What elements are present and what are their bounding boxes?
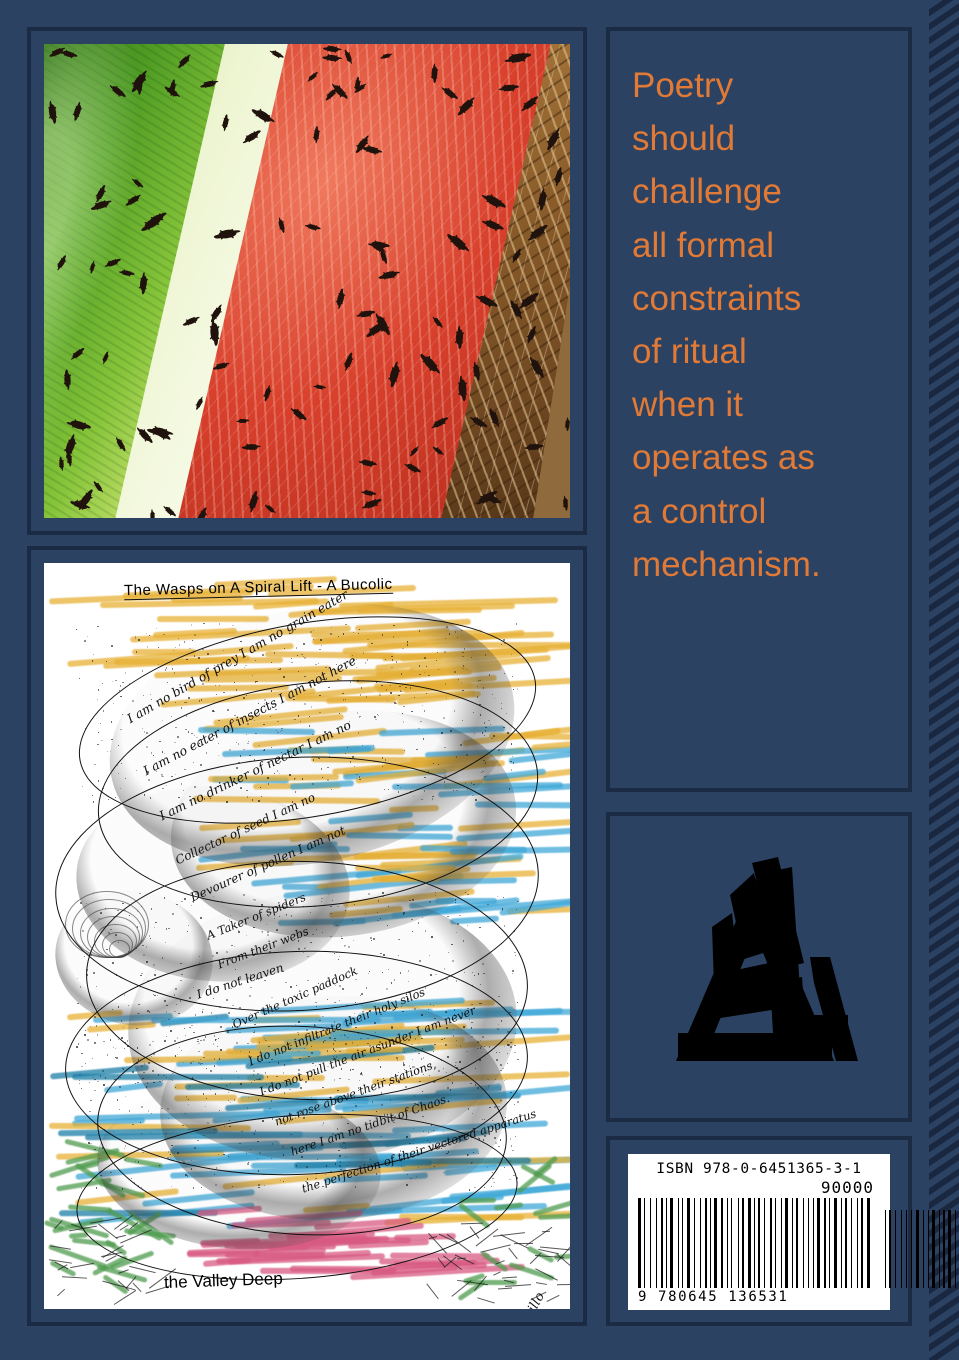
graphite-stipple bbox=[510, 1138, 511, 1139]
ant bbox=[563, 498, 568, 508]
graphite-stipple bbox=[94, 1149, 95, 1150]
photograph-panel bbox=[27, 27, 587, 535]
barcode-bar bbox=[920, 1210, 921, 1288]
barcode-bar bbox=[692, 1198, 693, 1288]
isbn-label: ISBN 978-0-6451365-3-1 bbox=[638, 1161, 880, 1177]
barcode-bar bbox=[668, 1198, 669, 1288]
graphite-stipple bbox=[77, 1003, 78, 1004]
barcode-bar bbox=[906, 1210, 907, 1288]
barcode-bar bbox=[666, 1198, 667, 1288]
barcode-bar bbox=[923, 1210, 924, 1288]
barcode-bar bbox=[789, 1198, 790, 1288]
quote-panel: Poetryshouldchallengeall formalconstrain… bbox=[606, 27, 912, 792]
ink-sketch-mark bbox=[477, 1298, 495, 1304]
barcode-bar bbox=[775, 1198, 776, 1288]
barcode-bar bbox=[857, 1198, 858, 1288]
graphite-stipple bbox=[163, 634, 164, 635]
barcode-bar bbox=[770, 1198, 772, 1288]
barcode-bar bbox=[702, 1198, 703, 1288]
barcode-bar bbox=[903, 1210, 905, 1288]
barcode-bar bbox=[783, 1198, 784, 1288]
quote-line: when it bbox=[632, 378, 896, 431]
graphite-stipple bbox=[87, 636, 88, 637]
barcode-bar bbox=[955, 1210, 956, 1288]
barcode-bar bbox=[930, 1210, 931, 1288]
graphite-stipple bbox=[149, 635, 150, 636]
ant bbox=[458, 379, 466, 396]
barcode-bar bbox=[729, 1198, 730, 1288]
barcode-bar bbox=[727, 1198, 728, 1288]
barcode-bar bbox=[670, 1198, 673, 1288]
barcode-bar bbox=[724, 1198, 726, 1288]
graphite-stipple bbox=[192, 640, 193, 641]
graphite-stipple bbox=[76, 629, 77, 630]
ant bbox=[508, 52, 527, 63]
graphite-stipple bbox=[179, 644, 180, 645]
barcode-bar bbox=[909, 1210, 910, 1288]
barcode-bar bbox=[664, 1198, 665, 1288]
ant bbox=[278, 220, 285, 231]
barcode-bar bbox=[682, 1198, 683, 1288]
barcode-bar bbox=[742, 1198, 744, 1288]
barcode-bar bbox=[748, 1198, 751, 1288]
barcode-bar bbox=[638, 1198, 641, 1288]
barcode-bars-row bbox=[638, 1198, 880, 1288]
barcode-bar bbox=[827, 1198, 828, 1288]
barcode-bar bbox=[937, 1210, 938, 1288]
publisher-logo-icon bbox=[652, 855, 866, 1079]
quote-line: a control bbox=[632, 485, 896, 538]
ants-on-watermelon-photo bbox=[44, 44, 570, 518]
barcode-bar bbox=[834, 1198, 837, 1288]
graphite-stipple bbox=[84, 956, 85, 957]
graphite-stipple bbox=[82, 786, 83, 787]
barcode-bar bbox=[897, 1210, 900, 1288]
ant bbox=[455, 329, 464, 345]
barcode-bar bbox=[885, 1210, 886, 1288]
barcode-bar bbox=[946, 1210, 947, 1288]
barcode-bar bbox=[687, 1198, 690, 1288]
graphite-stipple bbox=[138, 639, 139, 640]
barcode-bar bbox=[738, 1198, 739, 1288]
graphite-stipple bbox=[97, 626, 98, 627]
barcode-bar bbox=[781, 1198, 782, 1288]
quote-line: should bbox=[632, 112, 896, 165]
graphite-stipple bbox=[84, 640, 85, 641]
graphite-stipple bbox=[102, 683, 103, 684]
barcode-bar bbox=[851, 1198, 852, 1288]
barcode-bar bbox=[861, 1198, 863, 1288]
ant bbox=[60, 459, 64, 469]
ant bbox=[527, 444, 540, 450]
graphite-stipple bbox=[93, 654, 94, 655]
ink-sketch-mark bbox=[426, 1283, 439, 1299]
isbn-addon-label: 90000 bbox=[638, 1178, 880, 1197]
quote-line: of ritual bbox=[632, 325, 896, 378]
crayon-stroke bbox=[508, 1262, 554, 1281]
barcode-bar bbox=[721, 1198, 723, 1288]
barcode-bar bbox=[799, 1198, 802, 1288]
graphite-stipple bbox=[191, 624, 192, 625]
barcode-bar bbox=[796, 1198, 798, 1288]
graphite-stipple bbox=[512, 1150, 513, 1151]
publisher-logo-box bbox=[610, 816, 908, 1118]
graphite-stipple bbox=[93, 801, 94, 802]
graphite-stipple bbox=[135, 637, 136, 638]
barcode-bar bbox=[953, 1210, 954, 1288]
ant bbox=[431, 67, 438, 80]
graphite-stipple bbox=[115, 680, 116, 681]
graphite-stipple bbox=[158, 647, 159, 648]
barcode-bar bbox=[734, 1198, 737, 1288]
quote-line: operates as bbox=[632, 431, 896, 484]
ant bbox=[359, 311, 372, 318]
barcode-bar bbox=[813, 1198, 814, 1288]
barcode-bar bbox=[810, 1198, 812, 1288]
ink-sketch-mark bbox=[62, 1276, 87, 1278]
graphite-stipple bbox=[514, 1104, 515, 1105]
drawing-title: The Wasps on A Spiral Lift - A Bucolic bbox=[124, 576, 393, 601]
barcode-bar bbox=[867, 1198, 870, 1288]
graphite-stipple bbox=[90, 1143, 91, 1144]
barcode-bar bbox=[939, 1210, 940, 1288]
ink-sketch-mark bbox=[502, 1276, 517, 1278]
barcode-bar bbox=[901, 1210, 902, 1288]
graphite-stipple bbox=[511, 1145, 512, 1146]
barcode-bar bbox=[650, 1198, 651, 1288]
barcode-bar bbox=[680, 1198, 681, 1288]
barcode-bar bbox=[754, 1198, 755, 1288]
barcode-bar bbox=[843, 1198, 844, 1288]
barcode-bar bbox=[893, 1210, 894, 1288]
graphite-stipple bbox=[80, 986, 81, 987]
ant bbox=[49, 104, 57, 120]
ink-sketch-mark bbox=[493, 1271, 501, 1275]
ink-sketch-mark bbox=[557, 1284, 570, 1286]
ink-sketch-mark bbox=[70, 1263, 94, 1268]
graphite-stipple bbox=[158, 664, 159, 665]
barcode-bar bbox=[705, 1198, 707, 1288]
barcode-bar bbox=[731, 1198, 732, 1288]
barcode-bar bbox=[752, 1198, 753, 1288]
barcode-bar bbox=[773, 1198, 774, 1288]
graphite-stipple bbox=[184, 641, 185, 642]
barcode-bar bbox=[644, 1198, 645, 1288]
ant bbox=[501, 85, 515, 92]
spiral-poem-drawing: I am no bird of prey I am no grain eater… bbox=[44, 563, 570, 1309]
ant bbox=[135, 78, 143, 91]
barcode-bar bbox=[943, 1210, 945, 1288]
graphite-stipple bbox=[97, 699, 98, 700]
quote-line: challenge bbox=[632, 165, 896, 218]
barcode-bar bbox=[925, 1210, 927, 1288]
barcode-bar bbox=[710, 1198, 711, 1288]
ink-sketch-mark bbox=[536, 1282, 547, 1285]
barcode-bar bbox=[838, 1198, 840, 1288]
barcode-bar bbox=[758, 1198, 760, 1288]
barcode-bar bbox=[647, 1198, 649, 1288]
barcode-bar bbox=[911, 1210, 912, 1288]
ink-sketch-mark bbox=[493, 1232, 525, 1237]
ink-sketch-mark bbox=[508, 1248, 518, 1260]
barcode-bar bbox=[684, 1198, 686, 1288]
ant bbox=[245, 443, 258, 449]
graphite-stipple bbox=[516, 623, 517, 624]
ant bbox=[64, 373, 71, 387]
graphite-stipple bbox=[99, 1158, 100, 1159]
photograph-frame bbox=[35, 35, 579, 527]
graphite-stipple bbox=[517, 1101, 518, 1102]
barcode-bar bbox=[652, 1198, 655, 1288]
graphite-stipple bbox=[111, 645, 112, 646]
barcode-bar bbox=[841, 1198, 842, 1288]
spiral-binding-edge bbox=[925, 0, 959, 1360]
barcode-bar bbox=[764, 1198, 765, 1288]
graphite-stipple bbox=[173, 650, 174, 651]
barcode-bar bbox=[694, 1198, 695, 1288]
barcode-bar bbox=[889, 1210, 891, 1288]
ant bbox=[150, 511, 155, 518]
graphite-stipple bbox=[178, 638, 179, 639]
barcode-bar bbox=[718, 1198, 719, 1288]
graphite-stipple bbox=[515, 1136, 516, 1137]
barcode-bar bbox=[913, 1210, 915, 1288]
barcode-bar bbox=[948, 1210, 951, 1288]
drawing-caption: the Valley Deep bbox=[164, 1269, 283, 1293]
barcode-bar bbox=[714, 1198, 717, 1288]
ant bbox=[371, 240, 387, 250]
graphite-stipple bbox=[88, 1142, 89, 1143]
publisher-logo-panel bbox=[606, 812, 912, 1122]
barcode-bar bbox=[708, 1198, 709, 1288]
graphite-stipple bbox=[510, 1160, 511, 1161]
barcode-bar bbox=[848, 1198, 849, 1288]
graphite-stipple bbox=[106, 661, 107, 662]
barcode-bar bbox=[845, 1198, 847, 1288]
barcode-card: ISBN 978-0-6451365-3-1 90000 9 780645 13… bbox=[628, 1154, 890, 1310]
barcode-bar bbox=[661, 1198, 663, 1288]
barcode-bar bbox=[745, 1198, 746, 1288]
ant bbox=[67, 454, 72, 464]
barcode-bar bbox=[887, 1210, 888, 1288]
graphite-stipple bbox=[81, 1187, 82, 1188]
crayon-stroke bbox=[50, 1260, 77, 1277]
barcode-bar bbox=[696, 1198, 699, 1288]
ant bbox=[565, 419, 570, 429]
ink-sketch-mark bbox=[480, 1244, 511, 1252]
barcode-addon-bars bbox=[885, 1198, 959, 1288]
graphite-stipple bbox=[122, 682, 123, 683]
barcode-bar bbox=[831, 1198, 832, 1288]
barcode-bar bbox=[785, 1198, 788, 1288]
barcode-bar bbox=[794, 1198, 795, 1288]
ant bbox=[238, 419, 247, 423]
ink-sketch-mark bbox=[546, 1295, 559, 1302]
graphite-stipple bbox=[92, 795, 93, 796]
barcode-bar bbox=[792, 1198, 793, 1288]
graphite-stipple bbox=[189, 648, 190, 649]
isbn-panel: ISBN 978-0-6451365-3-1 90000 9 780645 13… bbox=[606, 1136, 912, 1326]
graphite-stipple bbox=[98, 689, 99, 690]
barcode-bar bbox=[803, 1198, 804, 1288]
barcode-bar bbox=[658, 1198, 659, 1288]
graphite-stipple bbox=[203, 623, 204, 624]
graphite-stipple bbox=[79, 678, 80, 679]
barcode-bar bbox=[756, 1198, 757, 1288]
barcode-bar bbox=[674, 1198, 676, 1288]
graphite-stipple bbox=[232, 625, 233, 626]
ean-digits: 9 780645 136531 bbox=[638, 1289, 880, 1305]
barcode-bar bbox=[766, 1198, 769, 1288]
graphite-stipple bbox=[156, 628, 157, 629]
graphite-stipple bbox=[175, 647, 176, 648]
ink-sketch-mark bbox=[498, 1288, 512, 1290]
cover-quote: Poetryshouldchallengeall formalconstrain… bbox=[632, 59, 896, 591]
graphite-stipple bbox=[125, 672, 126, 673]
barcode-bar bbox=[808, 1198, 809, 1288]
barcode-bar bbox=[678, 1198, 679, 1288]
barcode-bar bbox=[817, 1198, 820, 1288]
barcode-bar bbox=[853, 1198, 856, 1288]
graphite-stipple bbox=[77, 978, 78, 979]
quote-line: Poetry bbox=[632, 59, 896, 112]
graphite-stipple bbox=[142, 670, 143, 671]
graphite-stipple bbox=[147, 646, 148, 647]
quote-line: constraints bbox=[632, 272, 896, 325]
ink-sketch-mark bbox=[57, 1289, 65, 1297]
graphite-stipple bbox=[92, 660, 93, 661]
quote-line: mechanism. bbox=[632, 538, 896, 591]
barcode-bar bbox=[642, 1198, 643, 1288]
barcode-bar bbox=[932, 1210, 935, 1288]
barcode-bar bbox=[824, 1198, 826, 1288]
graphite-stipple bbox=[219, 623, 220, 624]
quote-line: all formal bbox=[632, 219, 896, 272]
barcode-bar bbox=[712, 1198, 713, 1288]
barcode-bar bbox=[928, 1210, 929, 1288]
barcode-bar bbox=[805, 1198, 806, 1288]
graphite-stipple bbox=[112, 681, 113, 682]
crayon-stroke bbox=[537, 1213, 570, 1220]
graphite-stipple bbox=[136, 651, 137, 652]
graphite-stipple bbox=[146, 633, 147, 634]
barcode-bar bbox=[700, 1198, 701, 1288]
barcode-bar bbox=[941, 1210, 942, 1288]
ant bbox=[210, 322, 218, 340]
barcode-bar bbox=[656, 1198, 657, 1288]
graphite-stipple bbox=[194, 634, 195, 635]
barcode-bar bbox=[829, 1198, 830, 1288]
drawing-frame: I am no bird of prey I am no grain eater… bbox=[35, 554, 579, 1318]
drawing-panel: I am no bird of prey I am no grain eater… bbox=[27, 546, 587, 1326]
barcode-bar bbox=[815, 1198, 816, 1288]
barcode-main-bars bbox=[638, 1198, 871, 1288]
barcode-bar bbox=[916, 1210, 919, 1288]
barcode-bar bbox=[865, 1198, 866, 1288]
barcode-bar bbox=[740, 1198, 741, 1288]
barcode-bar bbox=[778, 1198, 780, 1288]
barcode-bar bbox=[895, 1210, 896, 1288]
ant bbox=[473, 364, 480, 377]
graphite-stipple bbox=[120, 685, 121, 686]
barcode-bar bbox=[761, 1198, 762, 1288]
barcode-bar bbox=[822, 1198, 823, 1288]
barcode-bar bbox=[859, 1198, 860, 1288]
